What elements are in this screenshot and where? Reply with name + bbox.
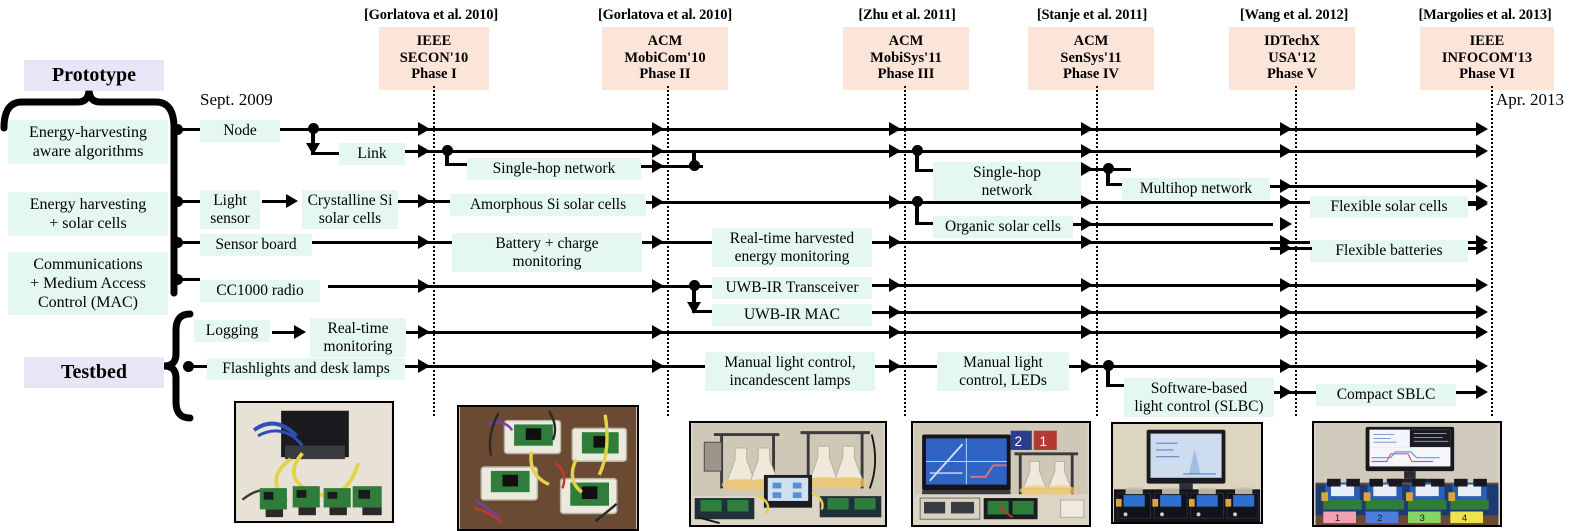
realtime-monitoring-line1: Real-time	[314, 320, 402, 338]
phase-2-venue-line2: MobiCom'10	[606, 50, 724, 67]
row-node-arrow-p1	[418, 122, 430, 136]
row-node-arrow-p4	[1081, 122, 1093, 136]
slbc-branch-hline	[1106, 384, 1124, 387]
amorphous-branch-hline	[915, 222, 933, 225]
light-sensor-chip: Light sensor	[200, 190, 260, 229]
row-rtm-arrow-p1	[418, 325, 430, 339]
flashlights-chip: Flashlights and desk lamps	[207, 358, 405, 380]
prototype-brace	[0, 88, 178, 298]
cc1000-radio-chip: CC1000 radio	[200, 280, 320, 302]
manual-incandescent-line1: Manual light control,	[709, 354, 871, 372]
row-singlehop-b-arrow-p4	[1081, 162, 1093, 176]
row-multihop-arrow-p5	[1280, 179, 1292, 193]
row-manual-leds-line	[1069, 365, 1480, 368]
row-link-line	[405, 150, 1480, 153]
realtime-monitoring-line2: monitoring	[314, 338, 402, 356]
phase-3-citation: [Zhu et al. 2011]	[832, 7, 982, 24]
phase-6-citation: [Margolies et al. 2013]	[1395, 7, 1575, 24]
row-uwb-transceiver-line	[872, 284, 1480, 287]
row-multihop-line	[1270, 185, 1480, 188]
row-organic-arrow-p4	[1081, 217, 1093, 231]
phase-1-citation: [Gorlatova et al. 2010]	[341, 7, 521, 24]
flexible-batteries-chip: Flexible batteries	[1310, 240, 1468, 262]
logging-chip: Logging	[194, 320, 270, 342]
row-cc1000-stub	[182, 278, 200, 281]
phase-1-phase-label: Phase I	[383, 66, 485, 83]
realtime-monitoring-chip: Real-time monitoring	[310, 318, 406, 357]
crystalline-si-line1: Crystalline Si	[306, 192, 394, 210]
single-hop-network-a-chip: Single-hop network	[467, 158, 641, 180]
manual-leds-line2: control, LEDs	[941, 372, 1065, 390]
logging-to-realtime-line	[272, 331, 296, 334]
uwb-ir-transceiver-chip: UWB-IR Transceiver	[712, 277, 872, 299]
row-node-arrow-p6	[1476, 122, 1488, 136]
light-sensor-line1: Light	[204, 192, 256, 210]
phase-5-citation: [Wang et al. 2012]	[1214, 7, 1374, 24]
photo-phase-2	[457, 405, 639, 531]
row-rth-arrow-p4	[1081, 235, 1093, 249]
phase-3-venue-line1: ACM	[847, 33, 965, 50]
phase-6-venue-line2: INFOCOM'13	[1424, 50, 1550, 67]
svg-text:1: 1	[1335, 513, 1340, 524]
row-link-arrow-p2	[652, 144, 664, 158]
phase-5-phase-label: Phase V	[1233, 66, 1351, 83]
row-cc1000-arrow-p1	[418, 279, 430, 293]
figure-root: [Gorlatova et al. 2010] IEEE SECON'10 Ph…	[0, 0, 1578, 531]
phase-1-venue-line1: IEEE	[383, 33, 485, 50]
phase-4-venue-line2: SenSys'11	[1032, 50, 1150, 67]
row-node-arrow-p5	[1280, 122, 1292, 136]
row-solar-top-arrow-p4	[1081, 195, 1093, 209]
single-hop-network-b-line1: Single-hop	[937, 164, 1077, 182]
slbc-line2: light control (SLBC)	[1128, 398, 1270, 416]
light-sensor-to-crystalline-arrow	[286, 194, 298, 208]
phase-4-header: ACM SenSys'11 Phase IV	[1028, 27, 1154, 90]
singlehop-a-branch-vline	[692, 150, 696, 166]
row-uwbt-arrow-p5	[1280, 278, 1292, 292]
end-date-label: Apr. 2013	[1496, 90, 1564, 110]
link-to-singlehop-branch-hline	[445, 163, 467, 166]
phase-5-venue-line1: IDTechX	[1233, 33, 1351, 50]
phase-3-header: ACM MobiSys'11 Phase III	[843, 27, 969, 90]
manual-incandescent-line2: incandescent lamps	[709, 372, 871, 390]
phase-6-venue-line1: IEEE	[1424, 33, 1550, 50]
phase-6-header: IEEE INFOCOM'13 Phase VI	[1420, 27, 1554, 90]
row-link-arrow-p3	[889, 144, 901, 158]
row-uwbt-arrow-p4	[1081, 278, 1093, 292]
group-label-testbed: Testbed	[24, 357, 164, 388]
svg-text:1: 1	[1039, 434, 1047, 449]
link-chip: Link	[339, 143, 405, 165]
row-mi-arrow-p3	[889, 359, 901, 373]
phase-2-header: ACM MobiCom'10 Phase II	[602, 27, 728, 90]
row-realtime-monitoring-line	[406, 331, 1480, 334]
row-manual-incandescent-line	[875, 365, 937, 368]
row-flashlights-arrow-p1	[418, 359, 430, 373]
sensor-board-chip: Sensor board	[200, 234, 312, 256]
multihop-network-chip: Multihop network	[1122, 178, 1270, 200]
node-chip: Node	[200, 120, 280, 142]
row-uwbm-arrow-p4	[1081, 305, 1093, 319]
photo-phase-4: 2 1	[911, 421, 1091, 527]
row-node-line	[280, 128, 1480, 131]
row-organic-line	[1073, 223, 1273, 226]
row-compact-sblc-arrow-p6	[1476, 385, 1488, 399]
light-sensor-line2: sensor	[204, 210, 256, 228]
link-phase3-branch-hline	[915, 169, 933, 172]
row-ml-arrow-p6	[1476, 359, 1488, 373]
battery-charge-chip: Battery + charge monitoring	[452, 233, 642, 272]
row-flexible-solar-arrow-p6	[1476, 197, 1488, 211]
svg-text:4: 4	[1462, 513, 1468, 524]
single-hop-network-b-line2: network	[937, 182, 1077, 200]
phase-5-header: IDTechX USA'12 Phase V	[1229, 27, 1355, 90]
svg-text:3: 3	[1420, 513, 1425, 524]
row-amorphous-arrow-p3	[889, 195, 901, 209]
row-battery-arrow-p2	[652, 235, 664, 249]
photo-phase-3	[689, 421, 887, 527]
photo-phase-1	[234, 401, 394, 523]
row-rtm-arrow-p2	[652, 325, 664, 339]
phase-2-citation: [Gorlatova et al. 2010]	[575, 7, 755, 24]
row-lightsensor-stub	[182, 200, 200, 203]
phase-1-header: IEEE SECON'10 Phase I	[379, 27, 489, 90]
crystalline-si-chip: Crystalline Si solar cells	[302, 190, 398, 229]
realtime-harvested-line2: energy monitoring	[716, 248, 868, 266]
row-link-arrow-p5	[1280, 144, 1292, 158]
compact-sblc-chip: Compact SBLC	[1316, 384, 1456, 406]
row-node-stub	[182, 128, 200, 131]
logging-to-realtime-arrow	[294, 325, 306, 339]
row-amorphous-line	[646, 201, 916, 204]
phase-1-venue-line2: SECON'10	[383, 50, 485, 67]
row-organic-arrow-p5	[1280, 217, 1292, 231]
row-uwbm-arrow-p5	[1280, 305, 1292, 319]
row-sensorboard-arrow-p1	[418, 235, 430, 249]
row-rtm-arrow-p5	[1280, 325, 1292, 339]
phase-4-phase-label: Phase IV	[1032, 66, 1150, 83]
phase-4-citation: [Stanje et al. 2011]	[1012, 7, 1172, 24]
row-link-arrow-p1	[418, 144, 430, 158]
start-date-label: Sept. 2009	[200, 90, 273, 110]
row-uwbt-arrow-p3	[889, 278, 901, 292]
crystalline-si-line2: solar cells	[306, 210, 394, 228]
row-crystalline-arrow-p1	[418, 194, 430, 208]
light-sensor-to-crystalline-line	[262, 200, 288, 203]
photo-phase-6: 1234	[1312, 421, 1502, 527]
row-flashlights-arrow-p2	[652, 359, 664, 373]
battery-charge-line2: monitoring	[456, 253, 638, 271]
realtime-harvested-line1: Real-time harvested	[716, 230, 868, 248]
row-ml-arrow-p4	[1081, 359, 1093, 373]
row-uwbm-arrow-p3	[889, 305, 901, 319]
row-sensorboard-stub	[182, 241, 200, 244]
phase-4-venue-line1: ACM	[1032, 33, 1150, 50]
group-label-prototype: Prototype	[24, 60, 164, 91]
phase-6-phase-label: Phase VI	[1424, 66, 1550, 83]
amorphous-si-chip: Amorphous Si solar cells	[450, 194, 646, 216]
row-uwbm-arrow-p6	[1476, 305, 1488, 319]
row-rtm-arrow-p6	[1476, 325, 1488, 339]
row-multihop-arrow-p6	[1476, 179, 1488, 193]
phase-3-phase-label: Phase III	[847, 66, 965, 83]
row-flashlights-stub	[193, 365, 207, 368]
row-cc1000-arrow-p2	[652, 279, 664, 293]
svg-text:2: 2	[1377, 513, 1382, 524]
singlehop-b-branch-hline	[1106, 183, 1122, 186]
row-ml-arrow-p5	[1280, 359, 1292, 373]
phase-6-divider	[1491, 86, 1493, 416]
organic-solar-cells-chip: Organic solar cells	[933, 216, 1073, 238]
row-flexible-batteries-arrow-p5	[1280, 241, 1292, 255]
manual-incandescent-chip: Manual light control, incandescent lamps	[705, 352, 875, 391]
svg-text:2: 2	[1014, 434, 1022, 449]
phase-5-venue-line2: USA'12	[1233, 50, 1351, 67]
photo-phase-5	[1111, 422, 1263, 524]
phase-2-phase-label: Phase II	[606, 66, 724, 83]
flexible-solar-cells-chip: Flexible solar cells	[1310, 196, 1468, 218]
row-link-stub	[311, 152, 339, 155]
row-link-arrow-p6	[1476, 144, 1488, 158]
row-uwbt-arrow-p6	[1476, 278, 1488, 292]
row-solar-top-arrow-p5	[1280, 195, 1292, 209]
row-uwb-mac-line	[872, 311, 1480, 314]
row-node-arrow-p3	[889, 122, 901, 136]
row-slbc-arrow-p5	[1280, 385, 1292, 399]
row-rth-arrow-p3	[889, 235, 901, 249]
phase-3-venue-line2: MobiSys'11	[847, 50, 965, 67]
single-hop-network-b-chip: Single-hop network	[933, 162, 1081, 201]
row-rtm-arrow-p3	[889, 325, 901, 339]
slbc-chip: Software-based light control (SLBC)	[1124, 378, 1274, 417]
manual-leds-line1: Manual light	[941, 354, 1065, 372]
row-singlehop-a-arrow-p3	[652, 159, 664, 173]
row-amorphous-arrow-p2	[652, 195, 664, 209]
row-node-arrow-p2	[652, 122, 664, 136]
row-rtm-arrow-p4	[1081, 325, 1093, 339]
row-sensorboard-line	[312, 241, 472, 244]
row-flexible-batteries-arrow-p6	[1476, 241, 1488, 255]
row-link-arrow-p4	[1081, 144, 1093, 158]
manual-leds-chip: Manual light control, LEDs	[937, 352, 1069, 391]
realtime-harvested-chip: Real-time harvested energy monitoring	[712, 228, 872, 267]
battery-charge-line1: Battery + charge	[456, 235, 638, 253]
slbc-line1: Software-based	[1128, 380, 1270, 398]
phase-2-venue-line1: ACM	[606, 33, 724, 50]
uwb-ir-mac-chip: UWB-IR MAC	[712, 304, 872, 326]
